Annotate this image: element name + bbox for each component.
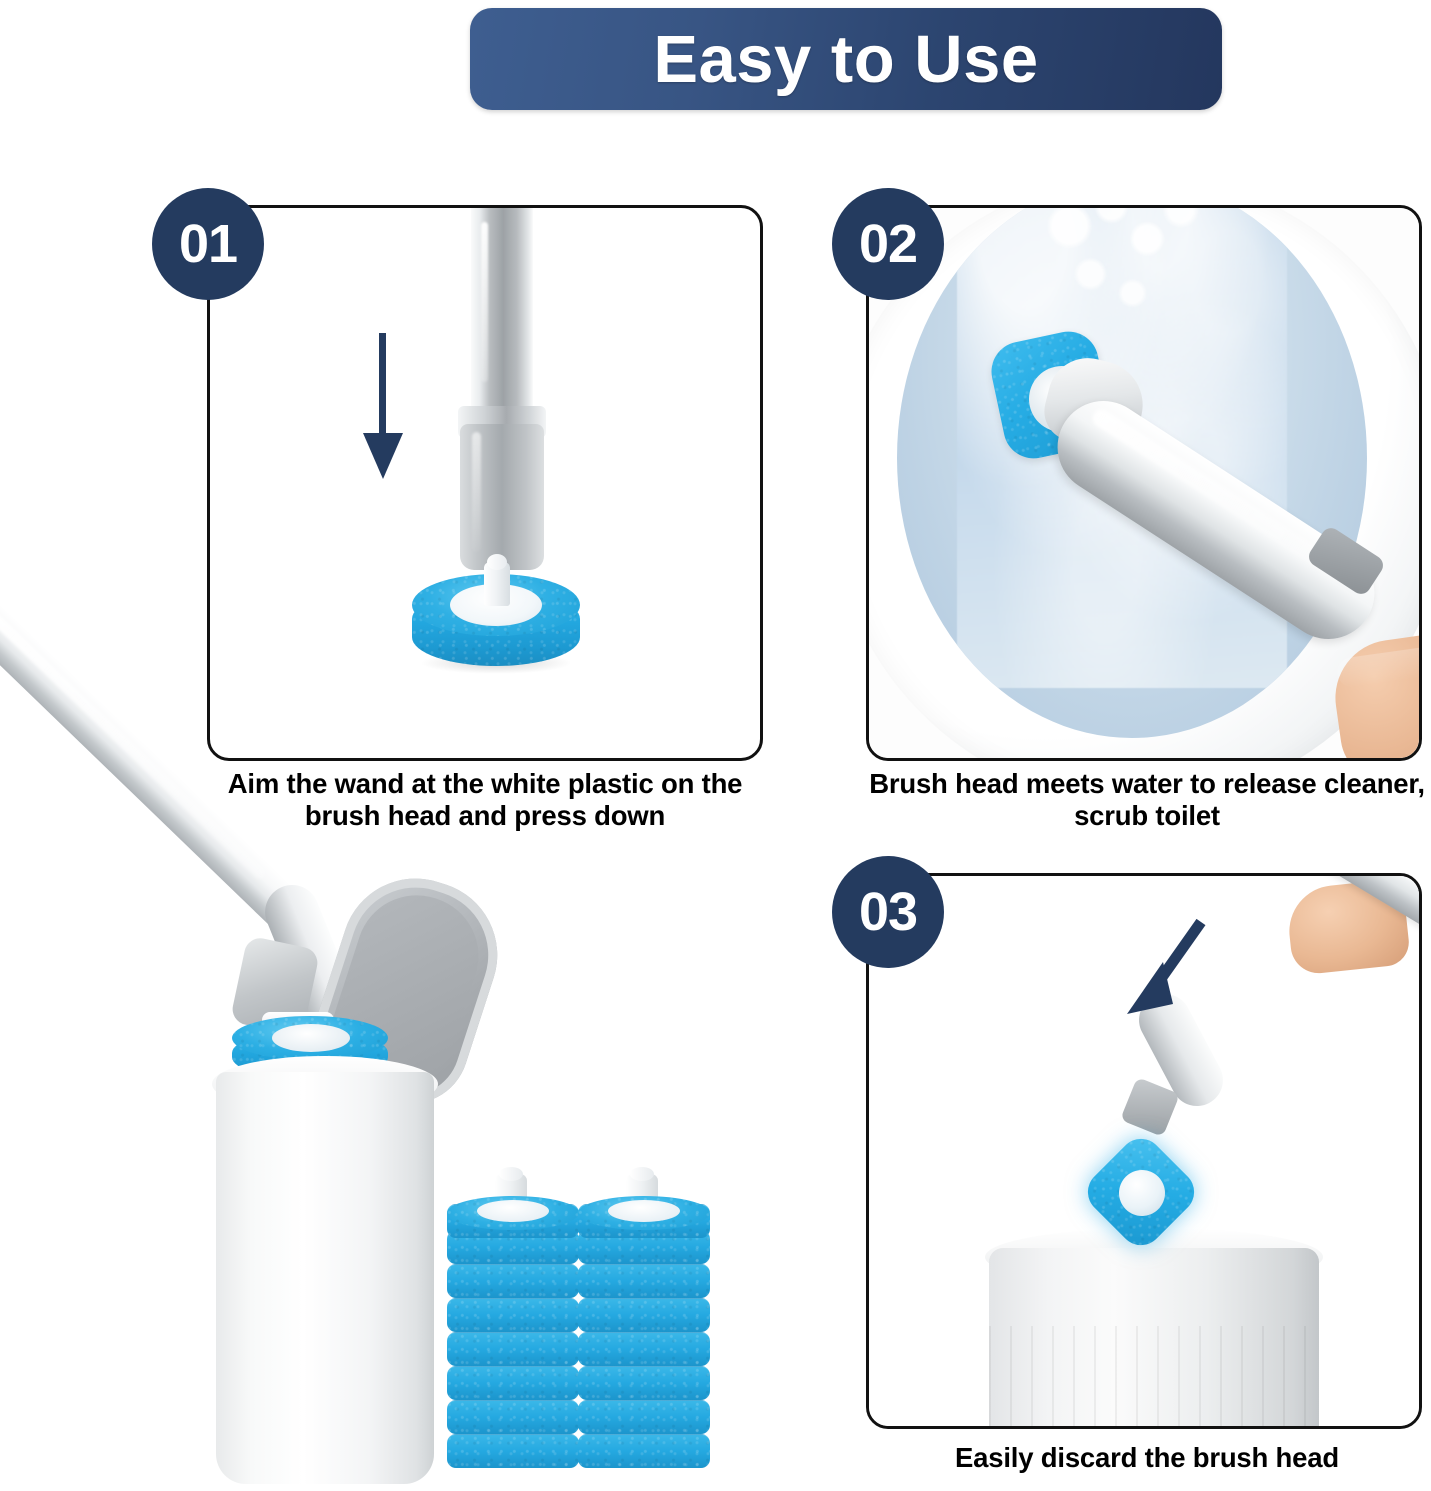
- refill-disc: [578, 1434, 710, 1468]
- step-badge-2: 02: [832, 188, 944, 300]
- refill-disc: [447, 1366, 579, 1400]
- refill-white-hub: [477, 1200, 549, 1222]
- step-2-illustration: [869, 208, 1419, 758]
- refill-disc: [578, 1332, 710, 1366]
- wand-shaft: [471, 205, 533, 430]
- sponge-brush-head: [406, 566, 586, 686]
- refill-disc: [578, 1298, 710, 1332]
- trash-can-ribs: [989, 1326, 1319, 1429]
- page-title: Easy to Use: [653, 26, 1038, 93]
- refill-disc: [578, 1366, 710, 1400]
- refill-white-hub: [608, 1200, 680, 1222]
- step-panel-3: [866, 873, 1422, 1429]
- header-banner: Easy to Use: [470, 8, 1222, 110]
- water-foam: [1017, 205, 1227, 338]
- step-caption-2: Brush head meets water to release cleane…: [862, 768, 1431, 833]
- step-badge-1: 01: [152, 188, 264, 300]
- step-3-illustration: [869, 876, 1419, 1426]
- wand-tip: [460, 424, 544, 570]
- step-panel-2: [866, 205, 1422, 761]
- step-caption-3: Easily discard the brush head: [862, 1442, 1431, 1474]
- step-badge-3: 03: [832, 856, 944, 968]
- refill-disc: [447, 1298, 579, 1332]
- sponge-white-plastic-nub: [484, 562, 510, 606]
- step-number: 02: [859, 213, 917, 275]
- refill-disc: [447, 1400, 579, 1434]
- refill-disc: [447, 1332, 579, 1366]
- step-number: 03: [859, 881, 917, 943]
- step-panel-1: [207, 205, 763, 761]
- refill-disc: [578, 1400, 710, 1434]
- step-number: 01: [179, 213, 237, 275]
- refill-disc: [447, 1434, 579, 1468]
- down-arrow-icon: [361, 333, 405, 481]
- down-left-arrow-icon: [1117, 918, 1213, 1028]
- caddy-base: [216, 1072, 434, 1484]
- refill-disc: [578, 1264, 710, 1298]
- infographic-page: Easy to Use: [0, 0, 1431, 1491]
- step-1-illustration: [210, 208, 760, 758]
- sponge-white-hub: [272, 1024, 350, 1052]
- refill-disc: [447, 1264, 579, 1298]
- sponge-white-disc: [1119, 1170, 1165, 1216]
- step-caption-1: Aim the wand at the white plastic on the…: [200, 768, 770, 833]
